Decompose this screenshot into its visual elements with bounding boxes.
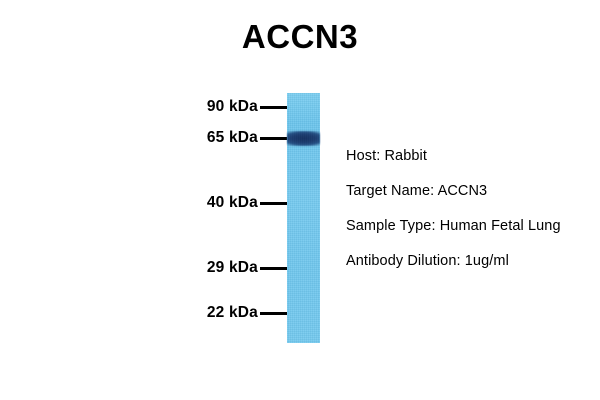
ladder-label-40: 40 kDa (207, 194, 258, 212)
ladder-label-90: 90 kDa (207, 98, 258, 116)
protein-band (287, 131, 320, 146)
ladder-label-65: 65 kDa (207, 129, 258, 147)
ladder-marker-40: 40 kDa (207, 192, 290, 214)
detail-sample-type: Sample Type: Human Fetal Lung (346, 209, 600, 244)
blot-lane (287, 93, 320, 343)
ladder-label-29: 29 kDa (207, 259, 258, 277)
ladder-marker-90: 90 kDa (207, 96, 290, 118)
ladder-marker-65: 65 kDa (207, 127, 290, 149)
ladder-tick-90-icon (260, 106, 290, 109)
ladder-marker-22: 22 kDa (207, 302, 290, 324)
molecular-weight-ladder: 90 kDa 65 kDa 40 kDa 29 kDa 22 kDa (0, 0, 290, 400)
ladder-tick-29-icon (260, 267, 290, 270)
detail-antibody-dilution: Antibody Dilution: 1ug/ml (346, 244, 600, 279)
ladder-tick-40-icon (260, 202, 290, 205)
detail-target-name: Target Name: ACCN3 (346, 174, 600, 209)
western-blot-figure: ACCN3 90 kDa 65 kDa 40 kDa 29 kDa 22 kDa… (0, 0, 600, 400)
ladder-tick-65-icon (260, 137, 290, 140)
ladder-marker-29: 29 kDa (207, 257, 290, 279)
sample-details-panel: Host: Rabbit Target Name: ACCN3 Sample T… (346, 139, 600, 279)
ladder-label-22: 22 kDa (207, 304, 258, 322)
ladder-tick-22-icon (260, 312, 290, 315)
detail-host: Host: Rabbit (346, 139, 600, 174)
